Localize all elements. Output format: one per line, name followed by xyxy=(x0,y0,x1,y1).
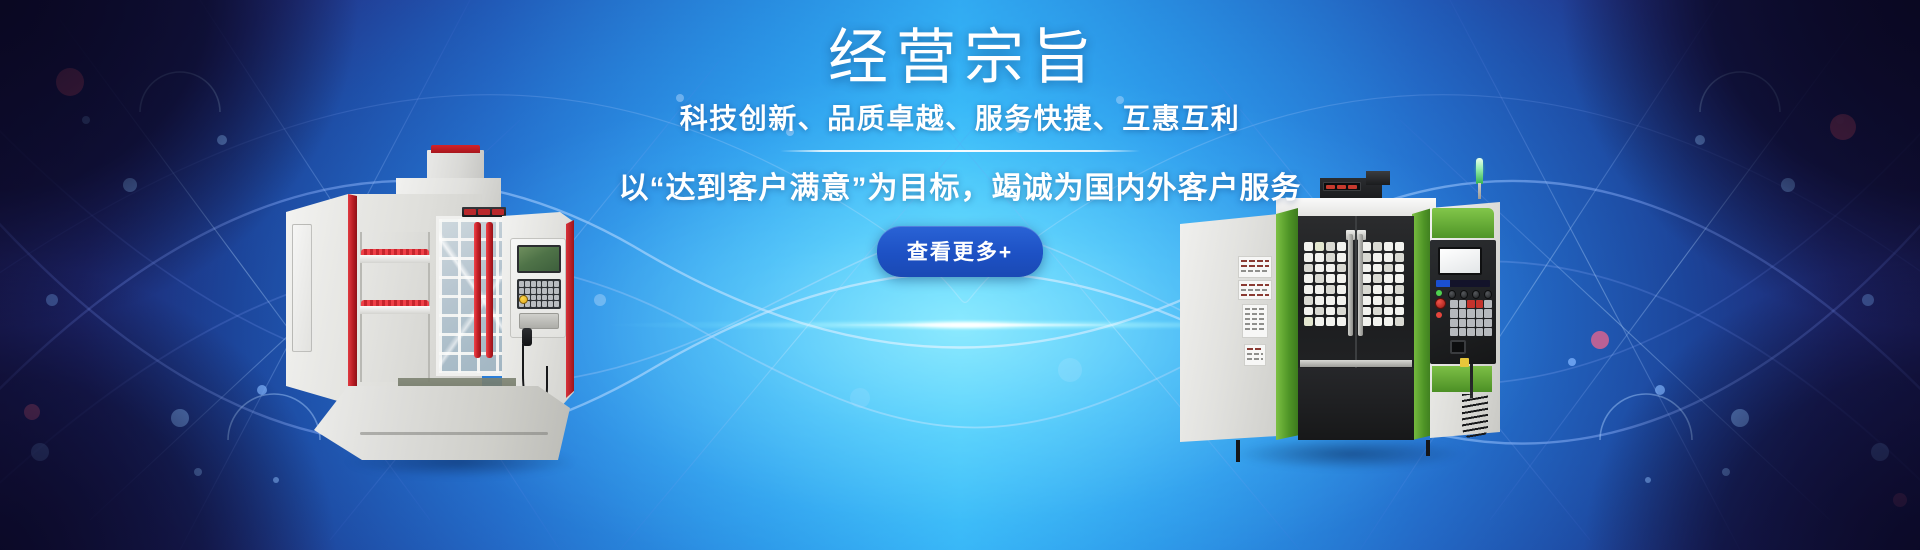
cta-wrapper: 查看更多+ xyxy=(0,226,1920,277)
light-streak-core xyxy=(870,318,1060,332)
right-machine-coiled-cable xyxy=(1462,364,1488,440)
right-machine-label-2 xyxy=(1238,280,1272,300)
view-more-button[interactable]: 查看更多+ xyxy=(877,226,1043,277)
right-machine-power-led xyxy=(1436,290,1442,296)
left-machine-base-seam xyxy=(360,432,548,435)
left-machine-emergency-stop xyxy=(519,295,528,304)
left-machine-shelf-lower xyxy=(360,305,430,314)
right-machine-keypad xyxy=(1450,300,1492,336)
banner-divider xyxy=(780,150,1140,152)
right-machine-label-3 xyxy=(1242,304,1268,338)
right-machine-emergency-stop xyxy=(1435,298,1446,309)
right-machine-cable-wire xyxy=(1470,364,1473,398)
left-machine-tray xyxy=(519,313,559,329)
right-machine-foot-left xyxy=(1236,440,1240,462)
right-machine-status-strip xyxy=(1436,280,1490,287)
right-machine-foot-right xyxy=(1426,440,1430,456)
right-machine-alarm-led xyxy=(1436,312,1442,318)
right-machine-label-4 xyxy=(1244,344,1266,366)
right-machine-lower-door xyxy=(1298,368,1414,440)
left-machine-base xyxy=(314,386,570,460)
right-machine-socket xyxy=(1450,340,1466,354)
banner-subtitle: 科技创新、品质卓越、服务快捷、互惠互利 xyxy=(0,97,1920,137)
banner-title: 经营宗旨 xyxy=(0,26,1920,91)
right-machine-cable-coil xyxy=(1462,394,1488,440)
banner-copy: 经营宗旨 科技创新、品质卓越、服务快捷、互惠互利 以“达到客户满意”为目标，竭诚… xyxy=(0,26,1920,277)
left-machine-tool-row-lower xyxy=(361,300,429,306)
banner-tagline: 以“达到客户满意”为目标，竭诚为国内外客户服务 xyxy=(0,163,1920,207)
left-machine-keypad xyxy=(517,279,561,309)
promo-banner: 经营宗旨 科技创新、品质卓越、服务快捷、互惠互利 以“达到客户满意”为目标，竭诚… xyxy=(0,0,1920,550)
right-machine-table-lip xyxy=(1300,360,1412,367)
